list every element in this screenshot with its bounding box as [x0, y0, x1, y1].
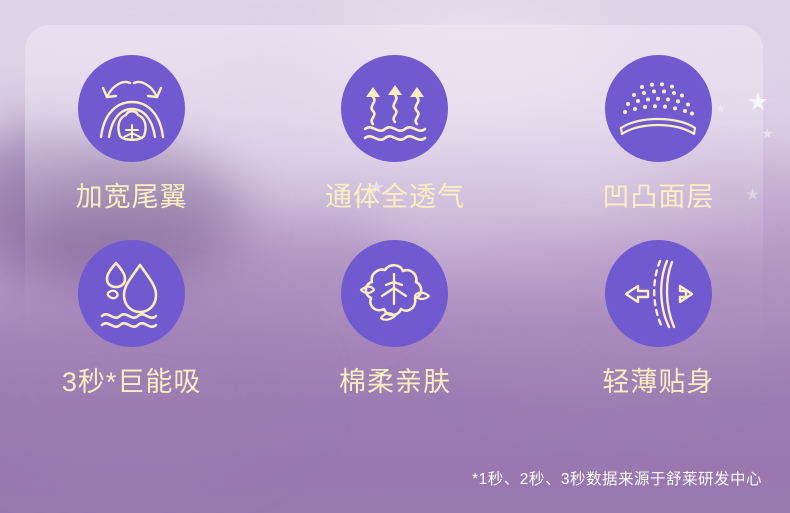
- footnote-disclaimer: *1秒、2秒、3秒数据来源于舒莱研发中心: [472, 467, 762, 489]
- feature-label: 轻薄贴身: [602, 369, 714, 396]
- cotton-soft-icon: [357, 258, 433, 330]
- feature-item-breathability: 通体全透气: [263, 55, 526, 240]
- feature-label: 3秒*巨能吸: [62, 369, 202, 396]
- full-breathability-icon: [360, 73, 430, 145]
- feature-item-widened-wings: 加宽尾翼: [0, 55, 263, 240]
- feature-icon-badge: [341, 55, 448, 162]
- slim-fit-icon: [620, 258, 696, 330]
- feature-icon-badge: [605, 240, 712, 347]
- widened-wings-icon: [93, 73, 171, 145]
- feature-icon-badge: [341, 240, 448, 347]
- feature-item-fast-absorption: 3秒*巨能吸: [0, 240, 263, 425]
- feature-label: 棉柔亲肤: [339, 369, 451, 396]
- feature-item-cotton-soft: 棉柔亲肤: [263, 240, 526, 425]
- feature-label: 凹凸面层: [602, 184, 714, 211]
- feature-grid: 加宽尾翼 通体全透气: [0, 55, 790, 425]
- feature-label: 通体全透气: [325, 184, 465, 211]
- feature-icon-badge: [78, 55, 185, 162]
- feature-item-embossed-surface: 凹凸面层: [527, 55, 790, 240]
- feature-icon-badge: [78, 240, 185, 347]
- feature-label: 加宽尾翼: [76, 184, 188, 211]
- feature-icon-badge: [605, 55, 712, 162]
- feature-item-slim-fit: 轻薄贴身: [527, 240, 790, 425]
- embossed-surface-icon: [618, 80, 698, 138]
- product-feature-poster: 加宽尾翼 通体全透气: [0, 0, 790, 513]
- fast-absorption-icon: [98, 259, 166, 329]
